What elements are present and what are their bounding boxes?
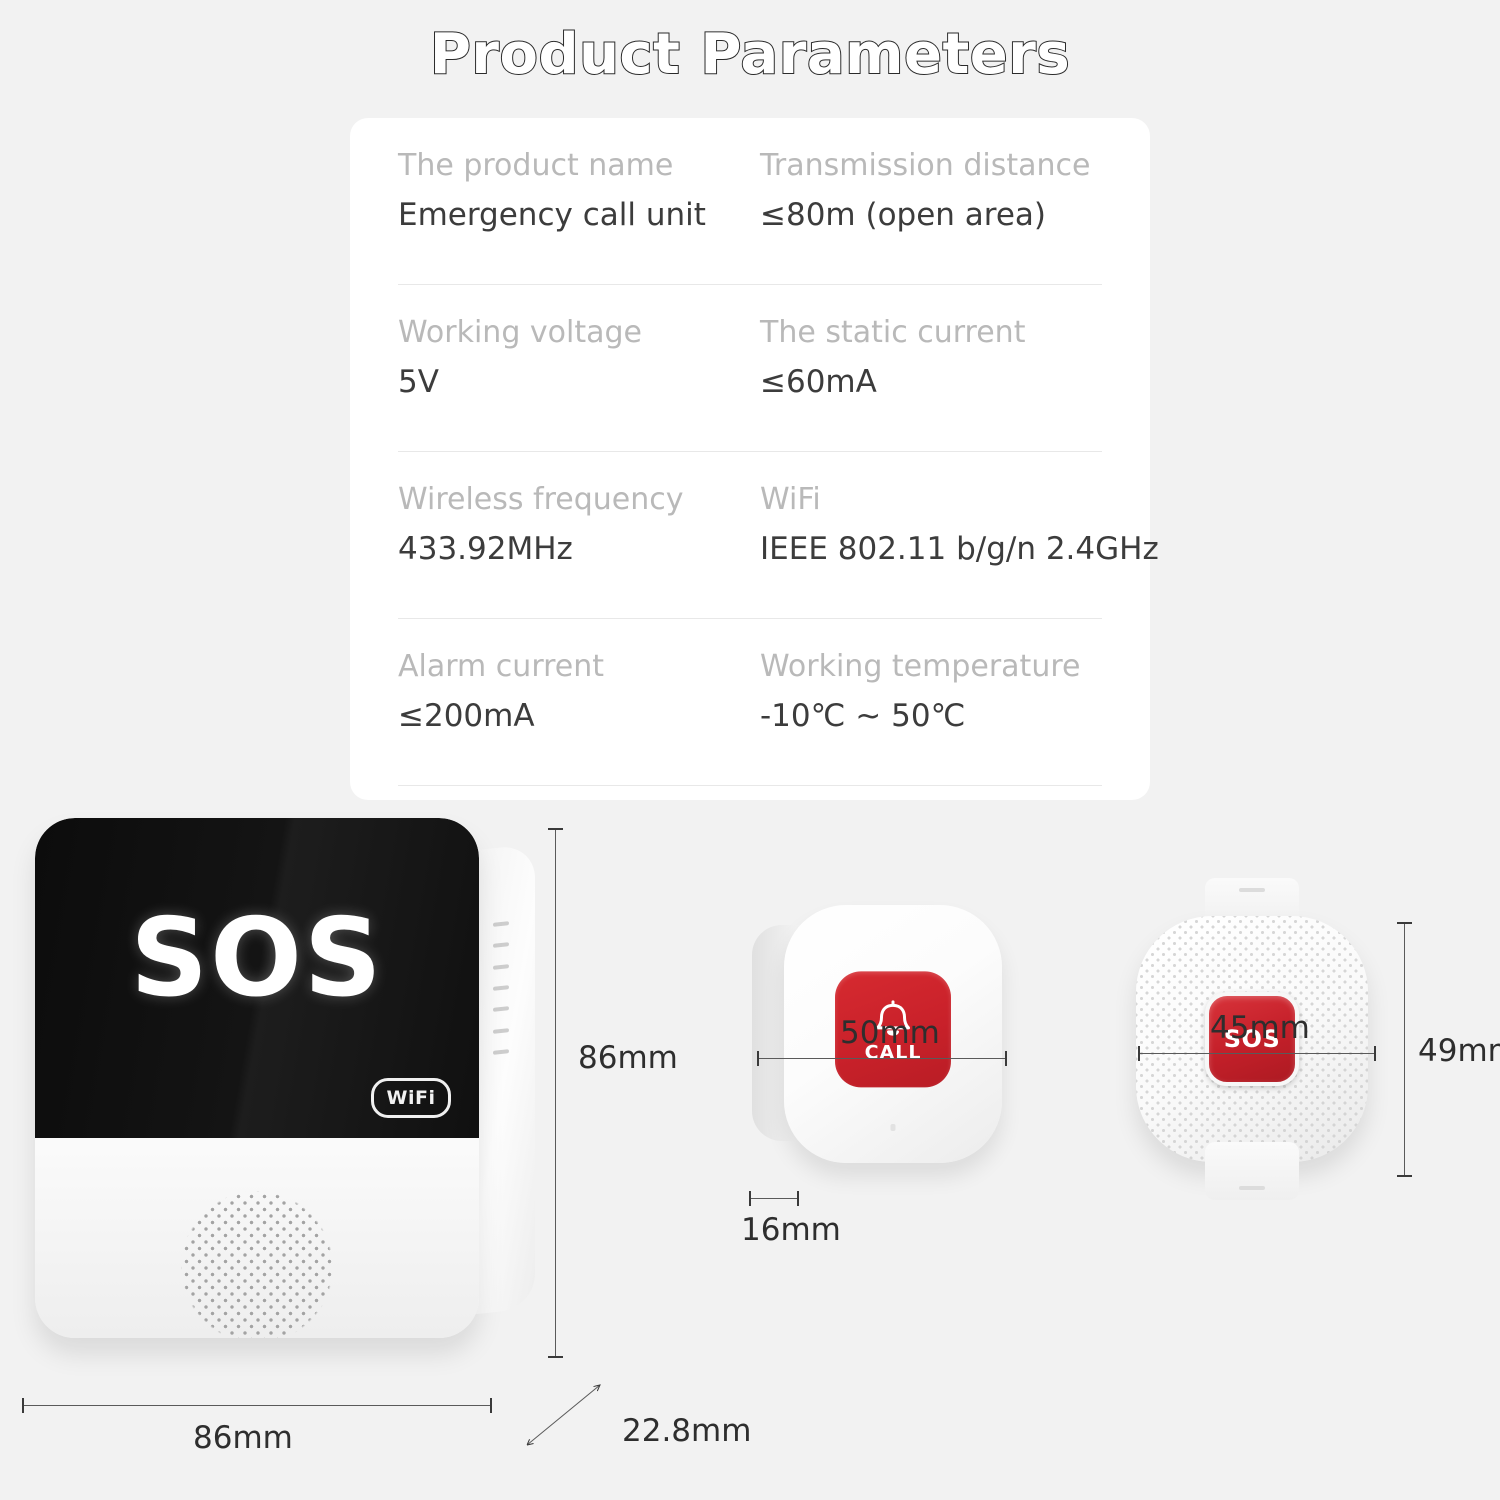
wrist-width-dimension-line <box>1138 1053 1376 1054</box>
spec-cell-product-name: The product name Emergency call unit <box>398 118 760 285</box>
spec-value: ≤80m (open area) <box>760 197 1102 234</box>
call-width-dimension-line <box>757 1058 1007 1059</box>
hub-depth-dimension-label: 22.8mm <box>622 1413 751 1449</box>
wrist-width-dimension-label: 45mm <box>1210 1010 1310 1046</box>
spec-value: Emergency call unit <box>398 197 760 234</box>
spec-value: ≤200mA <box>398 698 760 735</box>
spec-cell-static-current: The static current ≤60mA <box>760 285 1102 452</box>
spec-value: IEEE 802.11 b/g/n 2.4GHz <box>760 531 1102 568</box>
call-thickness-dimension-line <box>749 1198 799 1199</box>
spec-label: The static current <box>760 315 1102 351</box>
spec-cell-wifi: WiFi IEEE 802.11 b/g/n 2.4GHz <box>760 452 1102 619</box>
hub-body: SOS WiFi <box>35 818 479 1338</box>
spec-value: 5V <box>398 364 760 401</box>
spec-label: Working temperature <box>760 649 1102 685</box>
hub-sos-text: SOS <box>35 896 479 1021</box>
call-thickness-dimension-label: 16mm <box>741 1212 841 1248</box>
hub-vent-slots <box>493 921 509 1055</box>
hub-height-dimension-label: 86mm <box>578 1040 678 1076</box>
spec-cell-working-voltage: Working voltage 5V <box>398 285 760 452</box>
call-button-led <box>891 1124 896 1131</box>
spec-label: The product name <box>398 148 760 184</box>
spec-label: Alarm current <box>398 649 760 685</box>
spec-row: Wireless frequency 433.92MHz WiFi IEEE 8… <box>398 452 1102 619</box>
wrist-strap-bottom <box>1205 1142 1299 1200</box>
call-width-dimension-label: 50mm <box>840 1015 940 1051</box>
spec-value: ≤60mA <box>760 364 1102 401</box>
hub-height-dimension-line <box>555 828 556 1358</box>
spec-label: WiFi <box>760 482 1102 518</box>
product-stage: SOS WiFi 86mm 86mm 22.8mm <box>0 800 1500 1500</box>
spec-card: The product name Emergency call unit Tra… <box>350 118 1150 800</box>
hub-screen-panel: SOS WiFi <box>35 818 479 1138</box>
spec-value: 433.92MHz <box>398 531 760 568</box>
spec-row: Working voltage 5V The static current ≤6… <box>398 285 1102 452</box>
spec-cell-transmission-distance: Transmission distance ≤80m (open area) <box>760 118 1102 285</box>
wrist-height-dimension-line <box>1404 922 1405 1177</box>
spec-label: Wireless frequency <box>398 482 760 518</box>
page-title: Product Parameters <box>0 22 1500 87</box>
spec-row: The product name Emergency call unit Tra… <box>398 118 1102 285</box>
wifi-badge: WiFi <box>371 1078 451 1118</box>
spec-cell-wireless-frequency: Wireless frequency 433.92MHz <box>398 452 760 619</box>
spec-label: Transmission distance <box>760 148 1102 184</box>
hub-width-dimension-line <box>22 1405 492 1406</box>
hub-width-dimension-label: 86mm <box>193 1420 293 1456</box>
spec-row: Alarm current ≤200mA Working temperature… <box>398 619 1102 786</box>
spec-label: Working voltage <box>398 315 760 351</box>
wrist-height-dimension-label: 49mm <box>1418 1033 1500 1069</box>
spec-cell-alarm-current: Alarm current ≤200mA <box>398 619 760 786</box>
hub-speaker-grille <box>180 1190 334 1338</box>
spec-cell-working-temperature: Working temperature -10℃ ~ 50℃ <box>760 619 1102 786</box>
product-sos-hub: SOS WiFi <box>35 818 535 1356</box>
spec-value: -10℃ ~ 50℃ <box>760 698 1102 735</box>
